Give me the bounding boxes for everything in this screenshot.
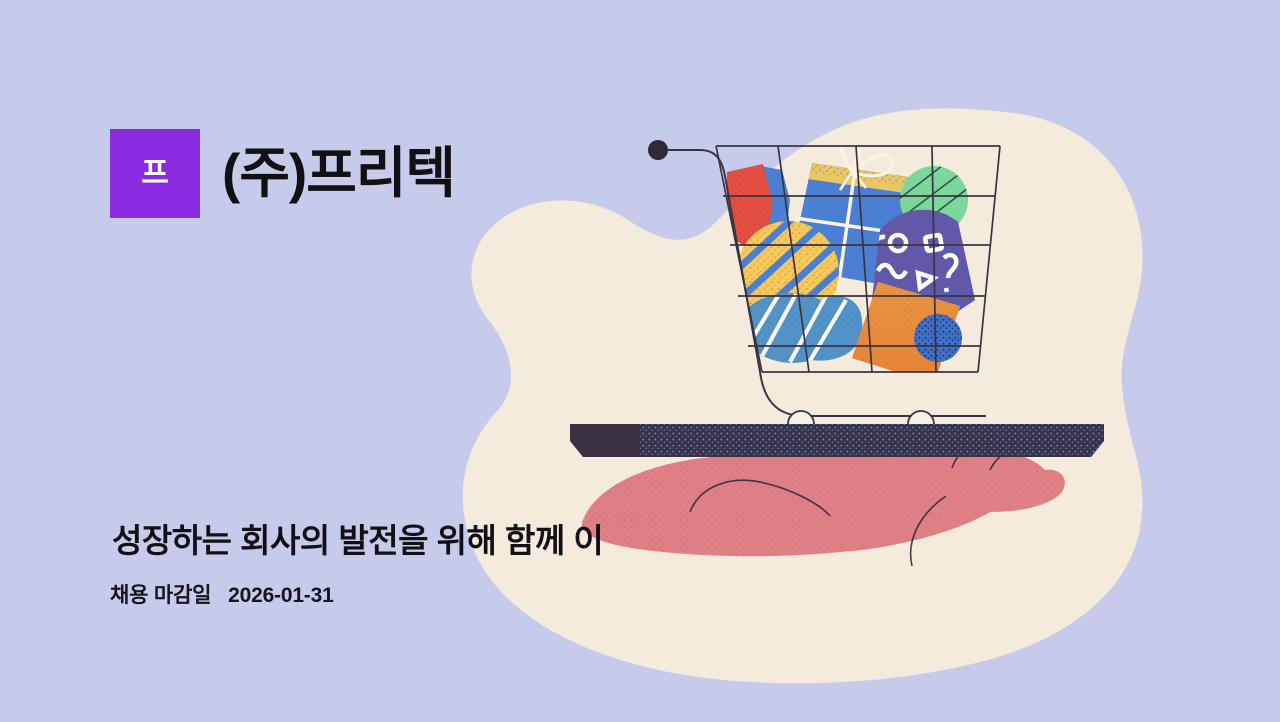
job-posting-banner: 프 (주)프리텍 성장하는 회사의 발전을 위해 함께 이 채용 마감일 202… [0,0,1280,722]
company-header: 프 (주)프리텍 [110,129,455,218]
tagline: 성장하는 회사의 발전을 위해 함께 이 [112,521,603,561]
illustration [0,0,1280,722]
deadline-date: 2026-01-31 [228,584,333,607]
company-name: (주)프리텍 [222,146,455,201]
cart-handle-knob [648,140,668,160]
dark-shelf-bar [570,420,1110,460]
company-logo-badge: 프 [110,129,200,218]
logo-initial: 프 [141,159,169,189]
deadline-line: 채용 마감일 2026-01-31 [110,583,334,608]
deadline-label: 채용 마감일 [110,584,211,607]
